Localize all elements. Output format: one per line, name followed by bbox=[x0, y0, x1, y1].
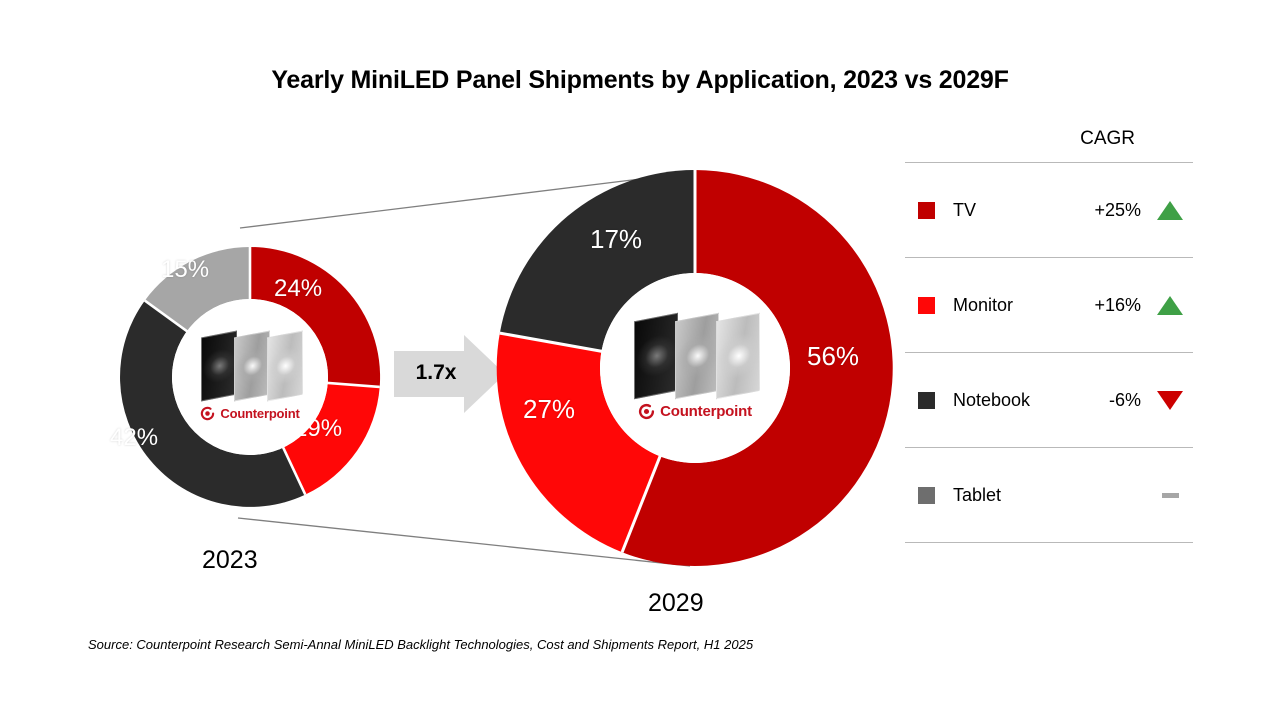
panel-layer-dark-icon bbox=[634, 312, 678, 399]
legend-trend-tablet bbox=[1147, 493, 1193, 498]
counterpoint-logo: Counterpoint bbox=[200, 406, 299, 421]
counterpoint-mark-icon bbox=[200, 406, 215, 421]
year-label-2029: 2029 bbox=[648, 589, 704, 618]
donut-2023-center-logo: Counterpoint bbox=[172, 299, 328, 455]
legend-swatch-monitor bbox=[918, 297, 935, 314]
legend-cagr-monitor: +16% bbox=[1073, 295, 1147, 316]
counterpoint-mark-icon bbox=[638, 403, 655, 420]
slice-label-2029-monitor: 27% bbox=[523, 394, 575, 425]
legend-swatch-tablet bbox=[918, 487, 935, 504]
legend-label-monitor: Monitor bbox=[953, 295, 1073, 316]
legend-cagr-notebook: -6% bbox=[1073, 390, 1147, 411]
miniled-panel-stack-icon bbox=[634, 317, 757, 395]
slice-label-2029-notebook: 17% bbox=[590, 224, 642, 255]
legend-row-tv[interactable]: TV +25% bbox=[905, 162, 1193, 257]
slice-label-2023-tablet: 15% bbox=[161, 256, 209, 284]
slice-label-2023-tv: 24% bbox=[274, 275, 322, 303]
counterpoint-logo: Counterpoint bbox=[638, 403, 752, 420]
year-label-2023: 2023 bbox=[202, 546, 258, 575]
panel-layer-dark-icon bbox=[201, 330, 237, 401]
legend-trend-tv bbox=[1147, 201, 1193, 220]
counterpoint-wordmark: Counterpoint bbox=[220, 406, 299, 421]
legend-label-notebook: Notebook bbox=[953, 390, 1073, 411]
legend-row-notebook[interactable]: Notebook -6% bbox=[905, 352, 1193, 447]
legend-cagr-tv: +25% bbox=[1073, 200, 1147, 221]
panel-layer-light-icon bbox=[267, 330, 303, 401]
panel-layer-light-icon bbox=[716, 312, 760, 399]
counterpoint-wordmark: Counterpoint bbox=[660, 403, 752, 420]
legend-trend-notebook bbox=[1147, 391, 1193, 410]
donut-chart-2029: 56% 27% 17% Counterpoint bbox=[495, 168, 895, 568]
legend: CAGR TV +25% Monitor +16% Notebook -6% T… bbox=[905, 128, 1193, 543]
dash-flat-icon bbox=[1162, 493, 1179, 498]
legend-swatch-tv bbox=[918, 202, 935, 219]
growth-arrow: 1.7x bbox=[392, 333, 507, 415]
miniled-panel-stack-icon bbox=[201, 334, 300, 398]
donut-2029-center-logo: Counterpoint bbox=[600, 273, 790, 463]
source-note: Source: Counterpoint Research Semi-Annal… bbox=[88, 637, 753, 652]
triangle-down-icon bbox=[1157, 391, 1183, 410]
legend-trend-monitor bbox=[1147, 296, 1193, 315]
triangle-up-icon bbox=[1157, 201, 1183, 220]
legend-row-monitor[interactable]: Monitor +16% bbox=[905, 257, 1193, 352]
legend-label-tv: TV bbox=[953, 200, 1073, 221]
legend-label-tablet: Tablet bbox=[953, 485, 1073, 506]
slice-label-2023-notebook: 42% bbox=[110, 424, 158, 452]
legend-swatch-notebook bbox=[918, 392, 935, 409]
page-title: Yearly MiniLED Panel Shipments by Applic… bbox=[0, 66, 1280, 95]
legend-row-tablet[interactable]: Tablet bbox=[905, 447, 1193, 543]
growth-multiplier-label: 1.7x bbox=[392, 361, 480, 385]
slice-label-2029-tv: 56% bbox=[807, 341, 859, 372]
panel-layer-mid-icon bbox=[234, 330, 270, 401]
donut-chart-2023: 24% 19% 42% 15% Counterpoint bbox=[88, 215, 412, 539]
triangle-up-icon bbox=[1157, 296, 1183, 315]
legend-header-cagr: CAGR bbox=[905, 128, 1193, 162]
panel-layer-mid-icon bbox=[675, 312, 719, 399]
